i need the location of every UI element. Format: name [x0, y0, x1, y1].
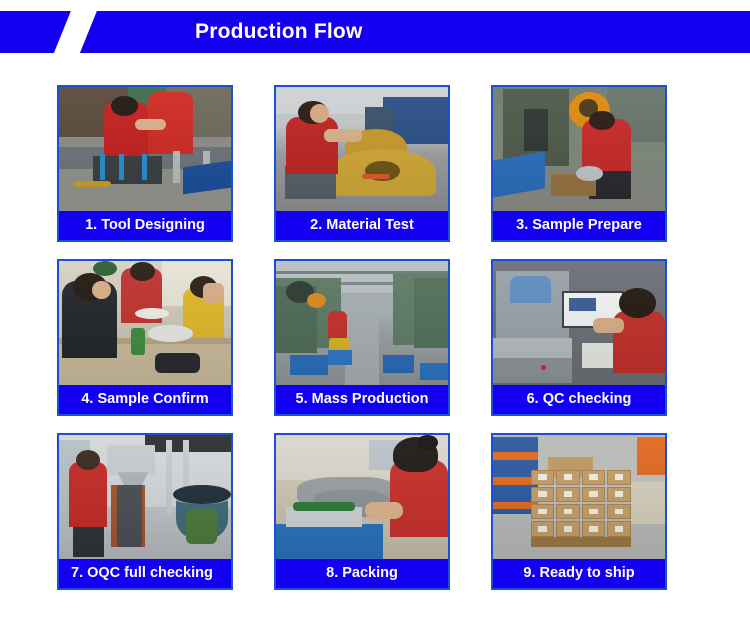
scene-qc-checking	[493, 261, 665, 385]
step-card-3[interactable]: 3. Sample Prepare	[491, 85, 667, 242]
step-caption-7: 7. OQC full checking	[59, 559, 231, 588]
step-photo-6	[493, 261, 665, 385]
scene-ready-to-ship	[493, 435, 665, 559]
step-caption-6: 6. QC checking	[493, 385, 665, 414]
step-caption-3: 3. Sample Prepare	[493, 211, 665, 240]
scene-mass-production	[276, 261, 448, 385]
production-flow-grid: 1. Tool Designing 2. Material Test	[57, 85, 667, 590]
step-photo-7	[59, 435, 231, 559]
step-card-7[interactable]: 7. OQC full checking	[57, 433, 233, 590]
scene-sample-confirm	[59, 261, 231, 385]
step-card-9[interactable]: 9. Ready to ship	[491, 433, 667, 590]
step-caption-5: 5. Mass Production	[276, 385, 448, 414]
step-caption-2: 2. Material Test	[276, 211, 448, 240]
scene-packing	[276, 435, 448, 559]
step-photo-2	[276, 87, 448, 211]
step-card-8[interactable]: 8. Packing	[274, 433, 450, 590]
page-title: Production Flow	[195, 11, 615, 53]
diagonal-slash-decoration	[51, 11, 100, 53]
step-photo-9	[493, 435, 665, 559]
step-card-4[interactable]: 4. Sample Confirm	[57, 259, 233, 416]
scene-oqc-full-checking	[59, 435, 231, 559]
scene-tool-designing	[59, 87, 231, 211]
step-photo-4	[59, 261, 231, 385]
step-caption-8: 8. Packing	[276, 559, 448, 588]
step-caption-9: 9. Ready to ship	[493, 559, 665, 588]
scene-sample-prepare	[493, 87, 665, 211]
step-card-1[interactable]: 1. Tool Designing	[57, 85, 233, 242]
step-photo-5	[276, 261, 448, 385]
step-photo-1	[59, 87, 231, 211]
step-card-5[interactable]: 5. Mass Production	[274, 259, 450, 416]
step-card-6[interactable]: 6. QC checking	[491, 259, 667, 416]
step-photo-3	[493, 87, 665, 211]
step-caption-1: 1. Tool Designing	[59, 211, 231, 240]
step-caption-4: 4. Sample Confirm	[59, 385, 231, 414]
step-photo-8	[276, 435, 448, 559]
scene-material-test	[276, 87, 448, 211]
step-card-2[interactable]: 2. Material Test	[274, 85, 450, 242]
